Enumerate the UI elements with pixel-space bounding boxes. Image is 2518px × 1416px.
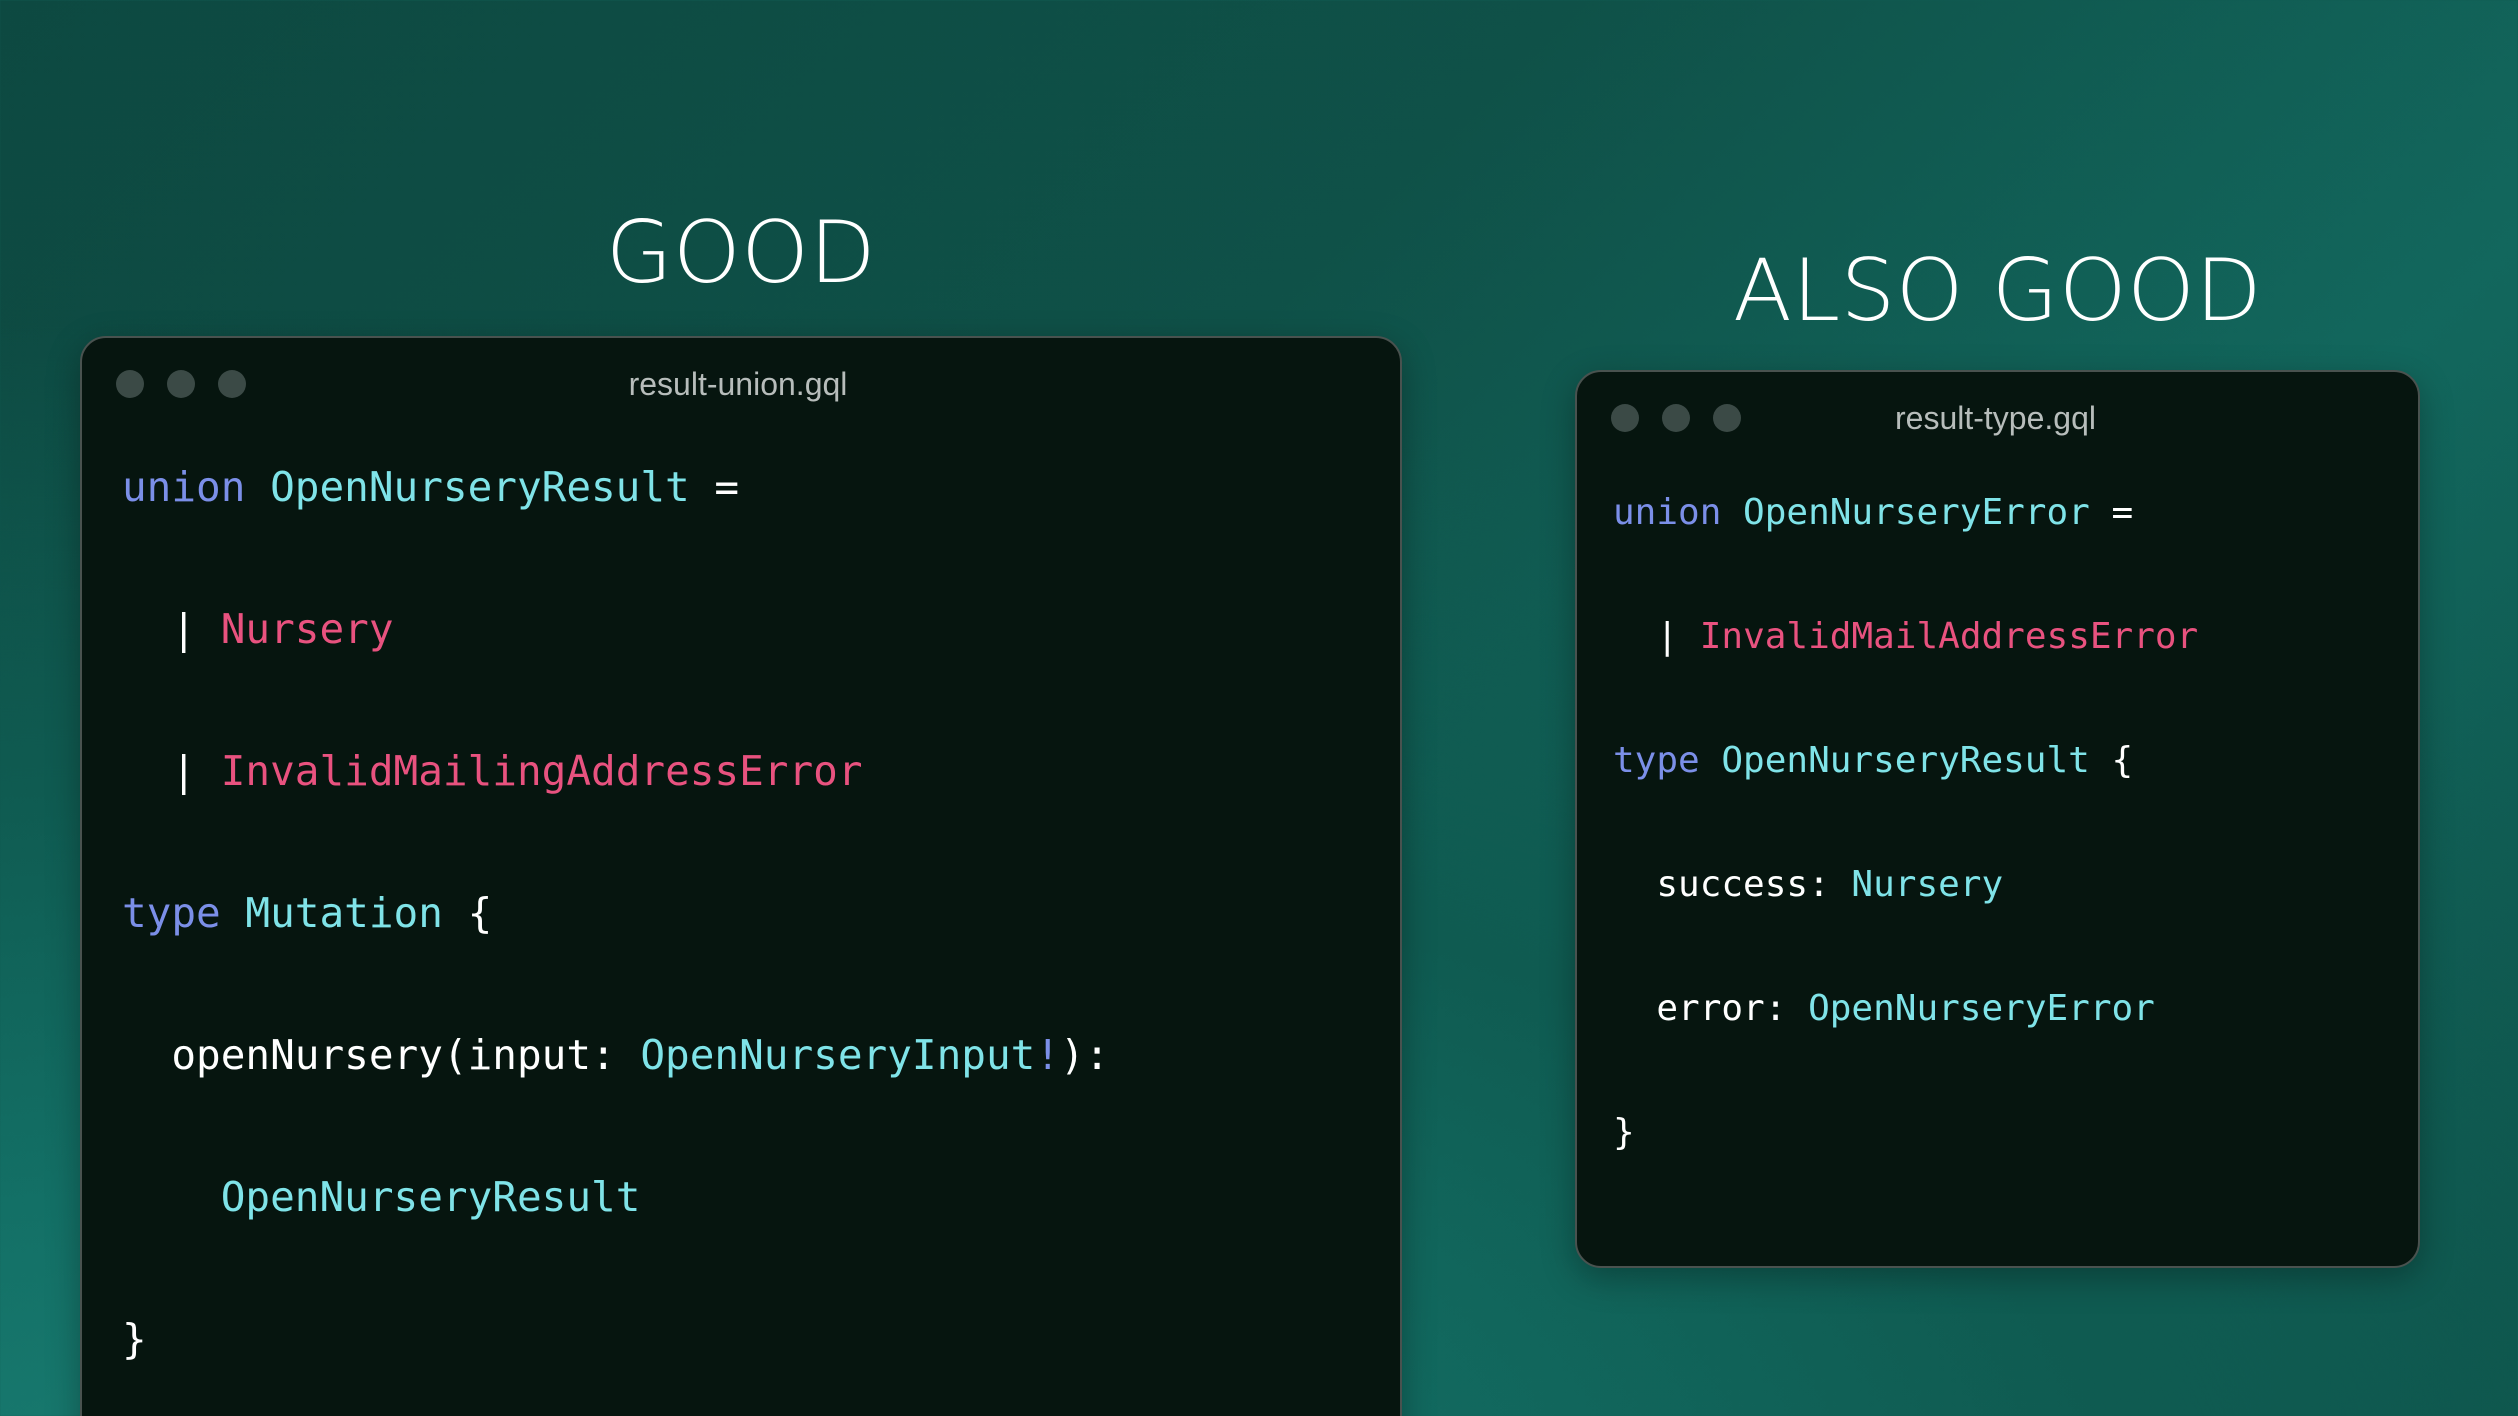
code-line: type OpenNurseryResult { bbox=[1613, 730, 2382, 792]
code-token-keyword: union bbox=[122, 463, 270, 511]
code-card-titlebar: result-type.gql bbox=[1577, 372, 2418, 464]
code-token-type: OpenNurseryError bbox=[1808, 988, 2155, 1029]
traffic-light-dots bbox=[1611, 404, 1741, 432]
code-token-member: Nursery bbox=[221, 605, 394, 653]
traffic-light-maximize-icon[interactable] bbox=[218, 370, 246, 398]
code-line: } bbox=[1613, 1102, 2382, 1164]
code-token-plain: { bbox=[2090, 740, 2133, 781]
code-card-filename: result-union.gql bbox=[82, 366, 1400, 403]
code-token-type: OpenNurseryResult bbox=[1721, 740, 2089, 781]
code-line: | InvalidMailAddressError bbox=[1613, 606, 2382, 668]
code-token-plain bbox=[1678, 616, 1700, 657]
code-token-plain bbox=[196, 747, 221, 795]
code-token-type: OpenNurseryError bbox=[1743, 492, 2090, 533]
traffic-light-dots bbox=[116, 370, 246, 398]
code-token-type: OpenNurseryResult bbox=[221, 1173, 641, 1221]
traffic-light-maximize-icon[interactable] bbox=[1713, 404, 1741, 432]
code-line: openNursery(input: OpenNurseryInput!): bbox=[122, 1020, 1360, 1091]
code-token-member: InvalidMailingAddressError bbox=[221, 747, 863, 795]
code-line: success: Nursery bbox=[1613, 854, 2382, 916]
traffic-light-minimize-icon[interactable] bbox=[1662, 404, 1690, 432]
code-line: } bbox=[122, 1304, 1360, 1375]
code-card-result-union: result-union.gql union OpenNurseryResult… bbox=[80, 336, 1402, 1416]
code-token-plain: success: bbox=[1613, 864, 1851, 905]
code-token-pipe: | bbox=[171, 747, 196, 795]
code-block-result-union: union OpenNurseryResult = | Nursery | In… bbox=[82, 430, 1400, 1416]
code-token-type: Mutation bbox=[245, 889, 442, 937]
slide-canvas: GOOD result-union.gql union OpenNurseryR… bbox=[0, 0, 2518, 1416]
code-token-keyword: ! bbox=[1035, 1031, 1060, 1079]
traffic-light-close-icon[interactable] bbox=[116, 370, 144, 398]
code-token-plain bbox=[122, 605, 171, 653]
code-line: OpenNurseryResult bbox=[122, 1162, 1360, 1233]
code-line: error: OpenNurseryError bbox=[1613, 978, 2382, 1040]
code-line: | Nursery bbox=[122, 594, 1360, 665]
code-token-plain: { bbox=[443, 889, 492, 937]
panel-heading-also-good: ALSO GOOD bbox=[1575, 248, 2420, 334]
panel-heading-good: GOOD bbox=[80, 210, 1402, 296]
code-token-plain: openNursery(input: bbox=[122, 1031, 640, 1079]
code-token-type: Nursery bbox=[1851, 864, 2003, 905]
code-token-keyword: union bbox=[1613, 492, 1743, 533]
code-token-plain: } bbox=[1613, 1112, 1635, 1153]
code-token-plain bbox=[1613, 616, 1656, 657]
code-token-plain: ): bbox=[1060, 1031, 1109, 1079]
code-token-keyword: type bbox=[1613, 740, 1721, 781]
panel-also-good: ALSO GOOD result-type.gql union OpenNurs… bbox=[1575, 248, 2420, 1268]
code-token-plain bbox=[122, 747, 171, 795]
code-line: union OpenNurseryError = bbox=[1613, 482, 2382, 544]
code-line: union OpenNurseryResult = bbox=[122, 452, 1360, 523]
code-line: | InvalidMailingAddressError bbox=[122, 736, 1360, 807]
code-line: type Mutation { bbox=[122, 878, 1360, 949]
code-token-keyword: type bbox=[122, 889, 245, 937]
traffic-light-minimize-icon[interactable] bbox=[167, 370, 195, 398]
code-block-result-type: union OpenNurseryError = | InvalidMailAd… bbox=[1577, 464, 2418, 1266]
code-token-type: OpenNurseryResult bbox=[270, 463, 690, 511]
panel-good: GOOD result-union.gql union OpenNurseryR… bbox=[80, 210, 1402, 1416]
code-token-plain: = bbox=[690, 463, 739, 511]
code-token-plain: = bbox=[2090, 492, 2133, 533]
code-token-plain: error: bbox=[1613, 988, 1808, 1029]
code-token-plain bbox=[196, 605, 221, 653]
code-token-type: OpenNurseryInput bbox=[640, 1031, 1035, 1079]
traffic-light-close-icon[interactable] bbox=[1611, 404, 1639, 432]
code-card-titlebar: result-union.gql bbox=[82, 338, 1400, 430]
code-token-plain bbox=[122, 1173, 221, 1221]
code-token-member: InvalidMailAddressError bbox=[1700, 616, 2199, 657]
code-card-result-type: result-type.gql union OpenNurseryError =… bbox=[1575, 370, 2420, 1268]
code-token-pipe: | bbox=[171, 605, 196, 653]
code-token-plain: } bbox=[122, 1315, 147, 1363]
code-token-pipe: | bbox=[1656, 616, 1678, 657]
